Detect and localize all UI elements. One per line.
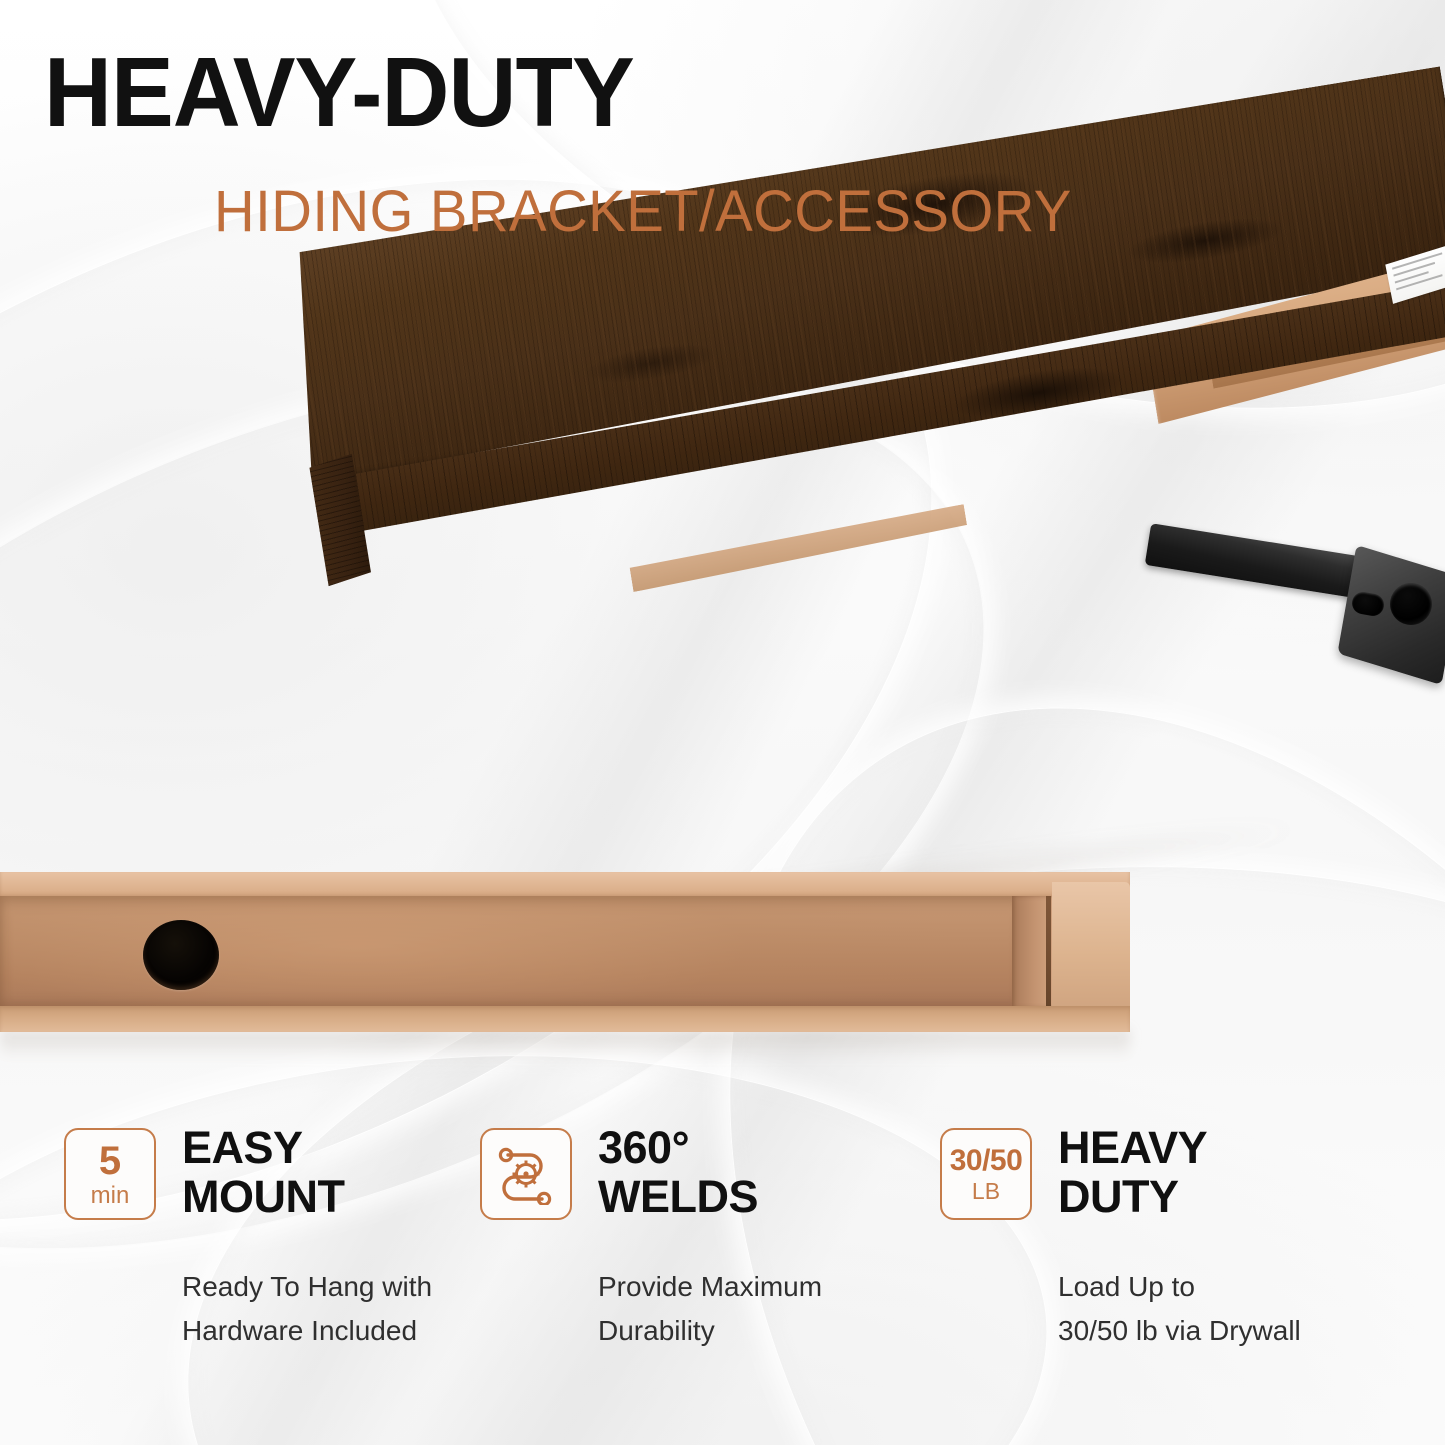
feature-title: 360° WELDS — [598, 1124, 758, 1221]
feature-description: Provide Maximum Durability — [598, 1265, 940, 1352]
badge-value: 30/50 — [950, 1146, 1023, 1176]
feature-easy-mount: 5 min EASY MOUNT Ready To Hang with Hard… — [0, 1128, 480, 1428]
badge-value: 5 — [99, 1141, 121, 1181]
shelf-top-rim — [0, 872, 1130, 898]
cutaway-drop-shadow — [0, 1030, 1130, 1060]
weld-path-gear-glyph — [495, 1143, 557, 1205]
shelf-bottom-rim — [0, 1006, 1130, 1032]
cutaway-product-image — [0, 872, 1130, 1032]
page-subtitle: HIDING BRACKET/ACCESSORY — [214, 183, 1072, 241]
page-title: HEAVY-DUTY — [44, 43, 634, 141]
hidden-mounting-bracket — [1140, 505, 1445, 675]
badge-unit: min — [91, 1184, 130, 1208]
clock-badge-icon: 5 min — [64, 1128, 156, 1220]
feature-header: 360° WELDS — [480, 1128, 940, 1221]
feature-description: Ready To Hang with Hardware Included — [182, 1265, 480, 1352]
shelf-recess-notch — [628, 504, 969, 592]
feature-360-welds: 360° WELDS Provide Maximum Durability — [480, 1128, 940, 1428]
feature-title: EASY MOUNT — [182, 1124, 344, 1221]
weld-path-gear-icon — [480, 1128, 572, 1220]
feature-heavy-duty: 30/50 LB HEAVY DUTY Load Up to 30/50 lb … — [940, 1128, 1385, 1428]
shelf-end-seam — [1046, 896, 1051, 1008]
feature-header: 5 min EASY MOUNT — [64, 1128, 480, 1221]
feature-list: 5 min EASY MOUNT Ready To Hang with Hard… — [0, 1128, 1445, 1428]
weight-capacity-badge-icon: 30/50 LB — [940, 1128, 1032, 1220]
feature-header: 30/50 LB HEAVY DUTY — [940, 1128, 1385, 1221]
feature-description: Load Up to 30/50 lb via Drywall — [1058, 1265, 1385, 1352]
hero-product-image — [0, 255, 1445, 775]
shelf-end-face — [1052, 882, 1130, 1022]
badge-unit: LB — [972, 1180, 1000, 1203]
mounting-hole-icon — [143, 920, 219, 990]
feature-title: HEAVY DUTY — [1058, 1124, 1207, 1221]
